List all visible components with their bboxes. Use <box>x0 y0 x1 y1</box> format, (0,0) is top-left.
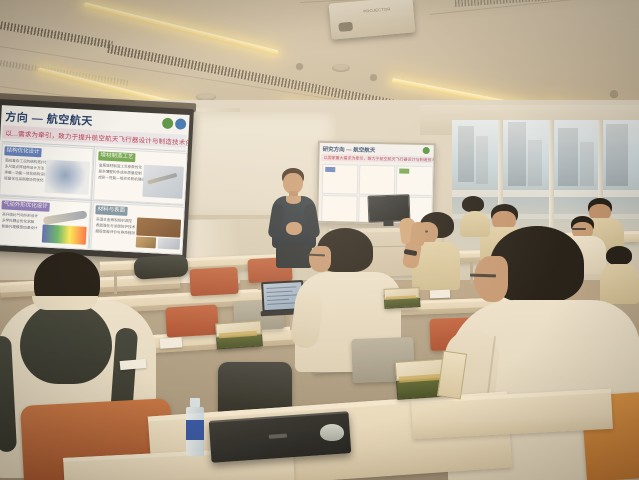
secondary-accent <box>325 167 335 172</box>
classroom-photo-scene: PROJECTOR 方向 — 航空航天 <box>0 0 639 480</box>
sprinkler-head <box>610 90 618 97</box>
classroom-chair <box>189 267 238 296</box>
attendee-collar <box>32 296 98 310</box>
attendee-hood <box>20 302 112 384</box>
classroom-chair <box>165 304 219 337</box>
slide-quadrant: 增材制造工艺 金属增材制造工艺参数优化 复杂薄壁构件成形质量控制 成形—性能—组… <box>93 148 188 205</box>
slide-quadrant: 气动外形优化设计 高升阻比气动外形设计 多学科耦合优化求解 智能代理模型加速设计 <box>0 197 91 250</box>
quadrant-micrograph <box>136 217 181 237</box>
secondary-banner-text: 以国家重大需求为牵引，致力于航空航天飞行器设计与制造技术 <box>323 155 435 163</box>
slide-quadrant: 结构优化设计 面向复杂工况的结构拓扑优化 多尺度点阵结构设计方法 承载—功能一体… <box>0 143 94 200</box>
gift-box <box>383 287 418 309</box>
linear-air-vent-left <box>0 20 113 49</box>
smoke-detector <box>332 64 350 72</box>
secondary-accent <box>399 168 409 173</box>
quadrant-diagram <box>44 160 90 195</box>
sprinkler-head <box>296 63 303 69</box>
secondary-logo <box>423 147 430 154</box>
quadrant-line: 服役性能评价与寿命预测 <box>95 229 135 236</box>
secondary-quadrant <box>321 195 358 225</box>
quadrant-micrograph-3 <box>158 238 181 250</box>
ceiling-projector: PROJECTOR <box>329 0 416 40</box>
attendee-face-profile <box>474 256 508 302</box>
water-bottle <box>186 398 204 456</box>
quadrant-heading: 结构优化设计 <box>4 146 41 157</box>
projector-label: PROJECTOR <box>363 6 391 13</box>
secondary-display-title: 研究方向 — 航空航天 <box>323 145 376 154</box>
quadrant-line: 智能代理模型加速设计 <box>1 224 37 230</box>
slide-logo-2 <box>175 118 187 130</box>
projection-screen-left: 方向 — 航空航天 以...需求为牵引，致力于提升航空航天飞行器设计与制造技术创… <box>0 99 194 265</box>
attendee-face-profile <box>309 246 331 272</box>
slide-quadrant: 材料与表面 高温合金微观组织调控 表面强化与涂层防护技术 服役性能评价与寿命预测 <box>90 202 184 255</box>
sprinkler-head <box>370 74 377 80</box>
quadrant-heading: 增材制造工艺 <box>98 151 135 162</box>
gift-box <box>215 320 261 349</box>
computer-mouse <box>320 424 344 441</box>
quadrant-line: 成形—性能—组织关联机理研究 <box>98 175 148 182</box>
papers <box>160 337 183 349</box>
quadrant-heading: 材料与表面 <box>95 205 127 216</box>
presentation-slide: 方向 — 航空航天 以...需求为牵引，致力于提升航空航天飞行器设计与制造技术创… <box>0 105 190 255</box>
quadrant-heading: 气动外形优化设计 <box>1 200 49 212</box>
secondary-quadrant <box>359 165 396 196</box>
quadrant-micrograph-2 <box>136 236 157 248</box>
secondary-display-banner: 以国家重大需求为牵引，致力于航空航天飞行器设计与制造技术 <box>321 154 433 163</box>
quadrant-line: 轻量化与高刚度协同优化 <box>4 176 44 183</box>
presenter-collar <box>286 196 301 204</box>
projector-lens <box>338 22 353 32</box>
slide-logo-1 <box>162 118 174 130</box>
papers <box>430 290 450 299</box>
quadrant-cfd-plot <box>42 224 87 244</box>
quadrant-aircraft <box>43 210 88 225</box>
